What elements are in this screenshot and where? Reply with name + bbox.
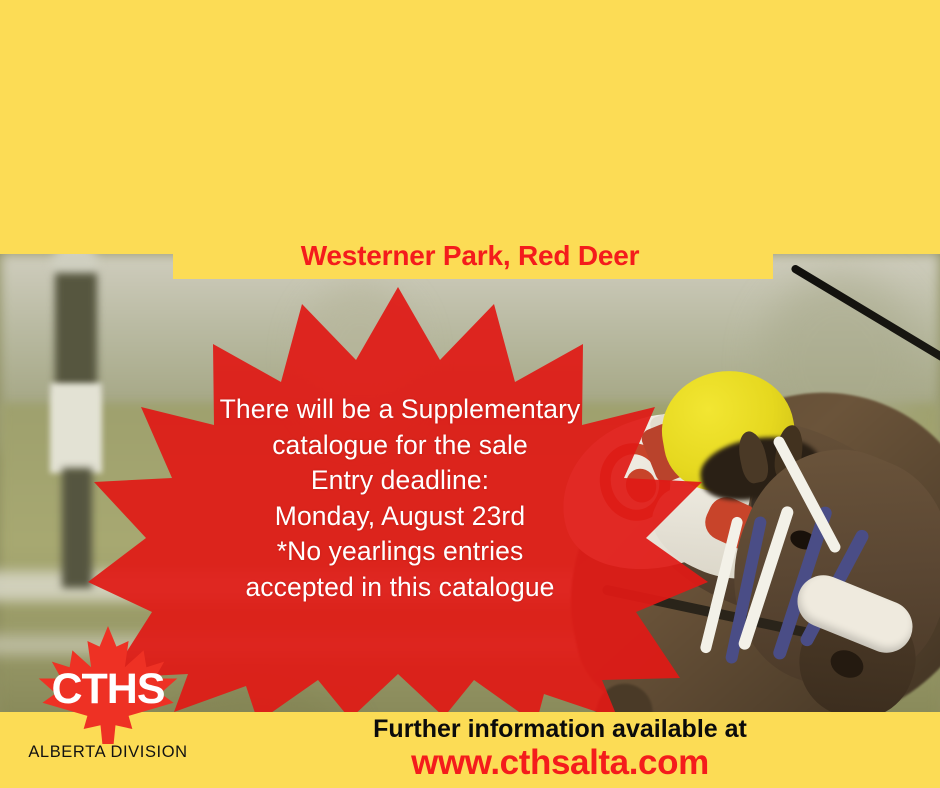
footer-info-text: Further information available at [180,715,940,744]
cths-acronym: CTHS [34,668,182,711]
notice-line-2: catalogue for the sale [130,428,670,464]
riding-whip-icon [790,264,940,389]
notice-line-6: accepted in this catalogue [130,570,670,606]
supplementary-catalogue-notice: There will be a Supplementary catalogue … [130,392,670,605]
cths-division-label: ALBERTA DIVISION [24,743,192,762]
notice-line-1: There will be a Supplementary [130,392,670,428]
footer-website-link[interactable]: www.cthsalta.com [180,743,940,783]
notice-line-3: Entry deadline: [130,463,670,499]
event-venue: Westerner Park, Red Deer [0,240,940,272]
top-yellow-banner [0,0,940,254]
cths-logo[interactable]: CTHS ALBERTA DIVISION [24,626,192,776]
poster-canvas: There will be a Supplementary catalogue … [0,0,940,788]
notice-line-5: *No yearlings entries [130,534,670,570]
notice-line-4: Monday, August 23rd [130,499,670,535]
